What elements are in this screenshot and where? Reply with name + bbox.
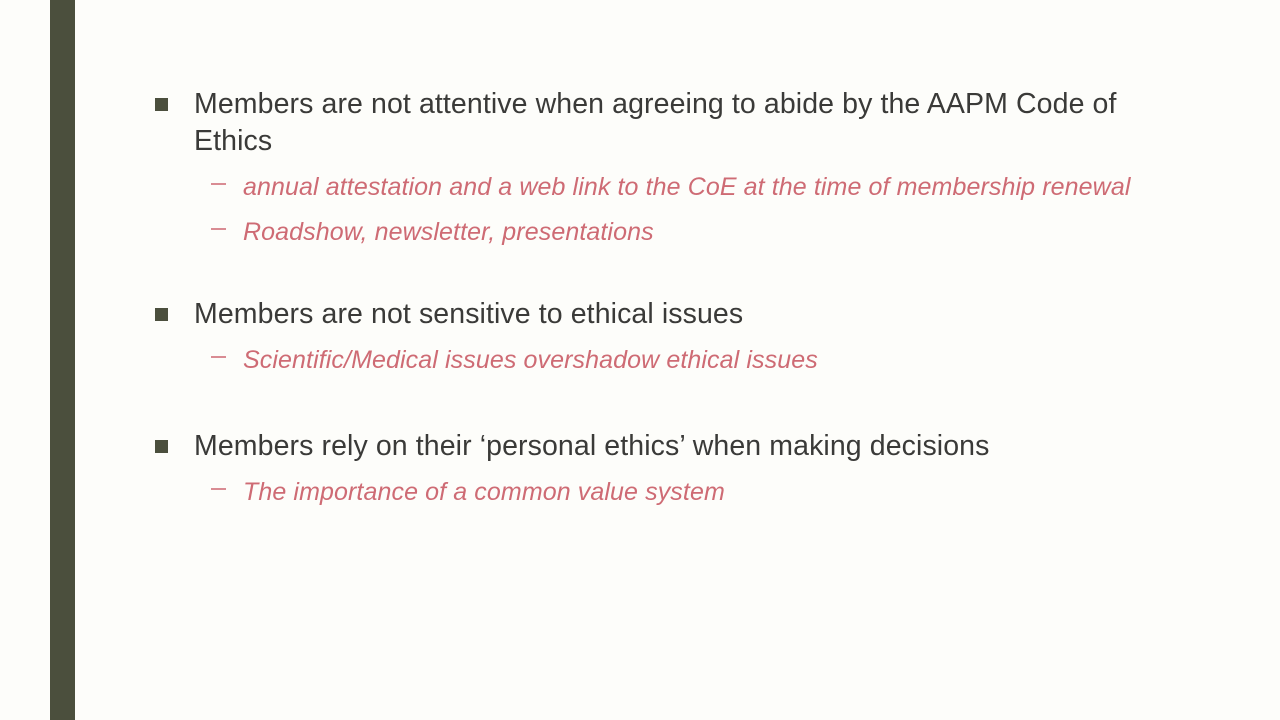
bullet-text-level1: Members rely on their ‘personal ethics’ … [194,428,1155,465]
bullet-item-level1: Members are not attentive when agreeing … [155,86,1155,160]
bullet-text-level2: annual attestation and a web link to the… [243,169,1155,205]
sub-bullet-list: Scientific/Medical issues overshadow eth… [155,342,1155,378]
bullet-item-level2: Roadshow, newsletter, presentations [211,214,1155,250]
slide: Members are not attentive when agreeing … [0,0,1280,720]
bullet-item-level2: The importance of a common value system [211,474,1155,510]
dash-bullet-icon [211,183,226,185]
bullet-item-level1: Members rely on their ‘personal ethics’ … [155,428,1155,465]
sub-bullet-list: annual attestation and a web link to the… [155,169,1155,250]
dash-bullet-icon [211,228,226,230]
bullet-text-level1: Members are not attentive when agreeing … [194,86,1155,160]
sub-bullet-list: The importance of a common value system [155,474,1155,510]
bullet-text-level2: The importance of a common value system [243,474,1155,510]
bullet-item-level2: annual attestation and a web link to the… [211,169,1155,205]
dash-bullet-icon [211,356,226,358]
square-bullet-icon [155,308,168,321]
square-bullet-icon [155,440,168,453]
dash-bullet-icon [211,488,226,490]
bullet-group: Members rely on their ‘personal ethics’ … [155,428,1155,510]
left-accent-band [50,0,75,720]
bullet-group: Members are not sensitive to ethical iss… [155,296,1155,378]
bullet-text-level2: Roadshow, newsletter, presentations [243,214,1155,250]
bullet-text-level2: Scientific/Medical issues overshadow eth… [243,342,1155,378]
square-bullet-icon [155,98,168,111]
slide-content-body: Members are not attentive when agreeing … [155,86,1155,510]
bullet-group: Members are not attentive when agreeing … [155,86,1155,250]
bullet-item-level1: Members are not sensitive to ethical iss… [155,296,1155,333]
bullet-text-level1: Members are not sensitive to ethical iss… [194,296,1155,333]
bullet-item-level2: Scientific/Medical issues overshadow eth… [211,342,1155,378]
